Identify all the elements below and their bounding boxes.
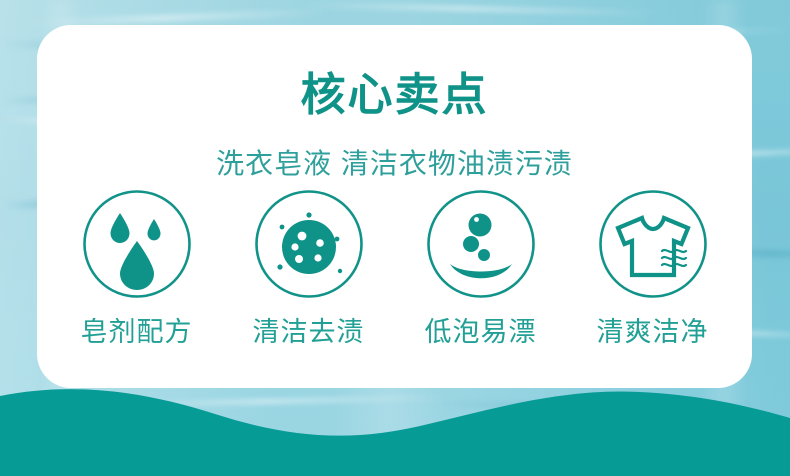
- feature-item-stain-removal[interactable]: 清洁去渍: [223, 189, 395, 349]
- feature-list: 皂剂配方 清洁去渍: [37, 189, 752, 349]
- feature-label: 低泡易漂: [425, 315, 537, 349]
- feature-label: 皂剂配方: [81, 315, 193, 349]
- tshirt-waves-icon: [598, 189, 708, 299]
- feature-label: 清洁去渍: [253, 315, 365, 349]
- feature-item-low-foam[interactable]: 低泡易漂: [395, 189, 567, 349]
- feature-item-fresh-clean[interactable]: 清爽洁净: [567, 189, 739, 349]
- bubbles-smile-icon: [426, 189, 536, 299]
- feature-item-soap-formula[interactable]: 皂剂配方: [51, 189, 223, 349]
- promo-banner: 核心卖点 洗衣皂液 清洁衣物油渍污渍 皂剂配方: [0, 0, 790, 476]
- page-title: 核心卖点: [37, 68, 752, 122]
- water-drops-icon: [82, 189, 192, 299]
- page-subtitle: 洗衣皂液 清洁衣物油渍污渍: [37, 146, 752, 182]
- feature-label: 清爽洁净: [597, 315, 709, 349]
- content-card: 核心卖点 洗衣皂液 清洁衣物油渍污渍 皂剂配方: [37, 25, 752, 388]
- stain-germ-icon: [254, 189, 364, 299]
